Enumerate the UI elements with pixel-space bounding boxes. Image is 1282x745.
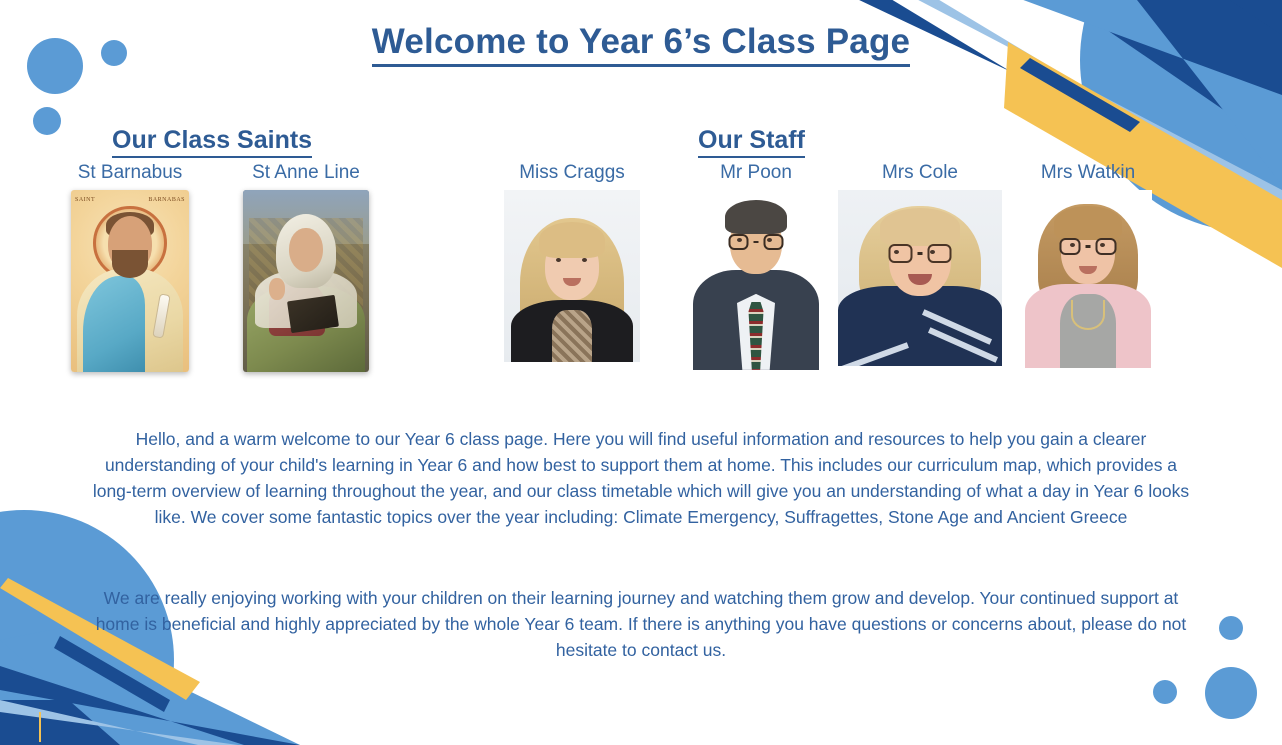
decor-dot-small-top-left xyxy=(33,107,61,135)
glasses-bridge xyxy=(918,252,923,255)
staff-card-mrs-cole: Mrs Cole xyxy=(838,163,1002,366)
saint-name-st-barnabus: St Barnabus xyxy=(71,163,189,184)
saint-image-st-barnabus: SAINT BARNABAS xyxy=(71,190,189,372)
eye-left-shape xyxy=(556,258,561,262)
section-heading-class-saints: Our Class Saints xyxy=(112,126,312,155)
staff-card-mrs-watkin: Mrs Watkin xyxy=(1024,163,1152,368)
staff-card-mr-poon: Mr Poon xyxy=(692,163,820,370)
staff-photo-mrs-cole xyxy=(838,190,1002,366)
decor-stripe-light-bottom xyxy=(0,700,238,745)
staff-photo-mrs-watkin xyxy=(1024,190,1152,368)
blouse-shape xyxy=(552,310,592,362)
saint-image-side-text-left: SAINT xyxy=(75,196,95,204)
saint-card-st-barnabus: St Barnabus SAINT BARNABAS xyxy=(71,163,189,372)
face-shape xyxy=(289,228,323,272)
saint-card-st-anne-line: St Anne Line xyxy=(243,163,369,372)
hand-shape xyxy=(269,278,285,300)
necklace-shape xyxy=(1071,300,1105,330)
glasses-bridge xyxy=(754,241,759,244)
staff-card-miss-craggs: Miss Craggs xyxy=(504,163,640,362)
staff-photo-miss-craggs xyxy=(504,190,640,362)
fringe-shape xyxy=(1054,206,1122,240)
saint-name-st-anne-line: St Anne Line xyxy=(243,163,369,184)
fringe-shape xyxy=(539,222,605,258)
page-title: Welcome to Year 6’s Class Page xyxy=(0,22,1282,62)
lens-right xyxy=(764,234,784,250)
eye-right-shape xyxy=(582,258,587,262)
decor-dot-small-bottom-right xyxy=(1153,680,1177,704)
page-title-text: Welcome to Year 6’s Class Page xyxy=(372,22,910,67)
lens-right xyxy=(928,244,952,263)
staff-name-mrs-cole: Mrs Cole xyxy=(838,163,1002,184)
beard-shape xyxy=(112,250,148,278)
staff-name-mrs-watkin: Mrs Watkin xyxy=(1024,163,1152,184)
staff-name-mr-poon: Mr Poon xyxy=(692,163,820,184)
lens-left xyxy=(1060,238,1081,255)
welcome-paragraph-1: Hello, and a warm welcome to our Year 6 … xyxy=(88,426,1194,530)
lens-right xyxy=(1096,238,1117,255)
saint-image-st-anne-line xyxy=(243,190,369,372)
staff-name-miss-craggs: Miss Craggs xyxy=(504,163,640,184)
fringe-shape xyxy=(880,208,960,246)
decor-stripe-dark-bottom xyxy=(0,666,300,745)
lens-left xyxy=(889,244,913,263)
glasses-shape xyxy=(1060,238,1117,255)
glasses-bridge xyxy=(1086,245,1091,248)
decor-gold-inner-stripe-top xyxy=(1020,58,1140,132)
section-heading-our-staff: Our Staff xyxy=(698,126,805,155)
decor-dot-medium-bottom-right xyxy=(1219,616,1243,640)
welcome-paragraph-2: We are really enjoying working with your… xyxy=(88,585,1194,663)
glasses-shape xyxy=(729,234,784,250)
section-heading-our-staff-text: Our Staff xyxy=(698,126,805,158)
section-heading-class-saints-text: Our Class Saints xyxy=(112,126,312,158)
class-page-slide: Welcome to Year 6’s Class Page Our Class… xyxy=(0,0,1282,745)
decor-dot-large-bottom-right xyxy=(1205,667,1257,719)
book-shape xyxy=(287,295,339,333)
decor-band-dark-bottom xyxy=(0,700,292,745)
staff-photo-mr-poon xyxy=(692,190,820,370)
glasses-shape xyxy=(889,244,952,263)
saint-image-side-text-right: BARNABAS xyxy=(148,196,185,204)
lens-left xyxy=(729,234,749,250)
hair-shape xyxy=(725,200,787,234)
